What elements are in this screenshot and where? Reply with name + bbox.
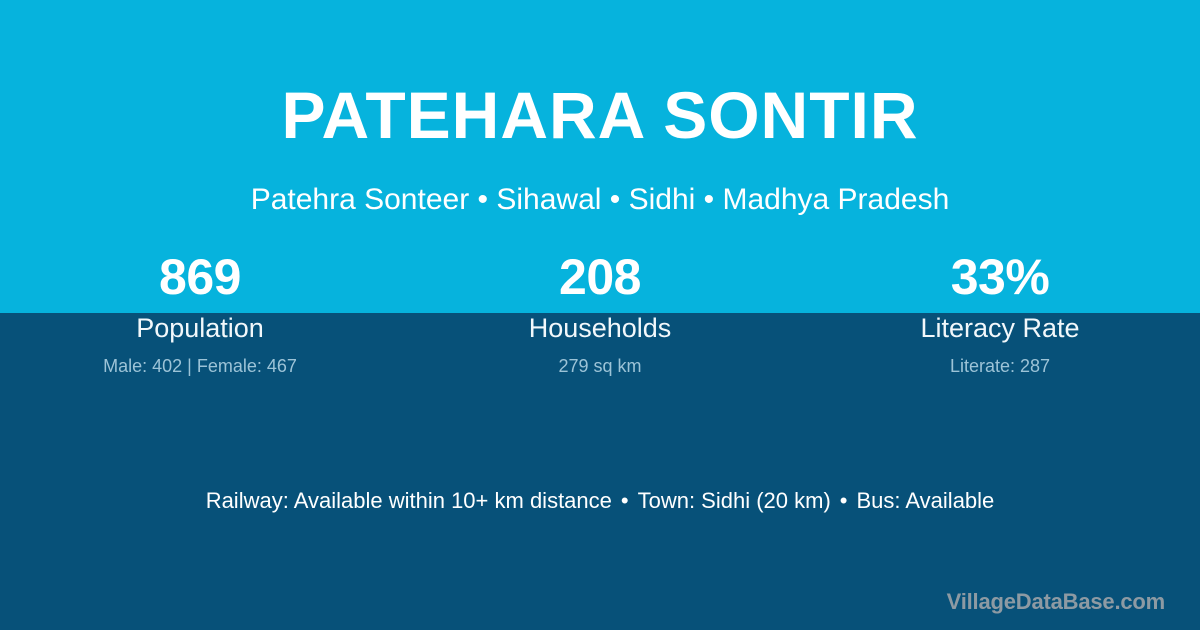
- amenity-town: Town: Sidhi (20 km): [638, 488, 831, 513]
- bullet-separator-icon: •: [831, 486, 857, 516]
- stat-value: 869: [0, 246, 400, 308]
- stat-sub: 279 sq km: [400, 354, 800, 378]
- site-watermark: VillageDataBase.com: [947, 588, 1165, 616]
- amenities-line: Railway: Available within 10+ km distanc…: [0, 486, 1200, 516]
- bullet-separator-icon: •: [612, 486, 638, 516]
- stat-label: Households: [400, 311, 800, 345]
- breadcrumb: Patehra Sonteer • Sihawal • Sidhi • Madh…: [0, 182, 1200, 218]
- stat-sub: Male: 402 | Female: 467: [0, 354, 400, 378]
- stat-label: Literacy Rate: [800, 311, 1200, 345]
- stat-households: 208 Households 279 sq km: [400, 246, 800, 378]
- page-title: PATEHARA SONTIR: [0, 82, 1200, 148]
- stat-label: Population: [0, 311, 400, 345]
- amenity-bus: Bus: Available: [856, 488, 994, 513]
- village-info-card: PATEHARA SONTIR Patehra Sonteer • Sihawa…: [0, 0, 1200, 630]
- stat-population: 869 Population Male: 402 | Female: 467: [0, 246, 400, 378]
- stat-value: 33%: [800, 246, 1200, 308]
- stat-literacy-rate: 33% Literacy Rate Literate: 287: [800, 246, 1200, 378]
- card-content: PATEHARA SONTIR Patehra Sonteer • Sihawa…: [0, 0, 1200, 630]
- stat-sub: Literate: 287: [800, 354, 1200, 378]
- stats-row: 869 Population Male: 402 | Female: 467 2…: [0, 246, 1200, 378]
- stat-value: 208: [400, 246, 800, 308]
- amenity-railway: Railway: Available within 10+ km distanc…: [206, 488, 612, 513]
